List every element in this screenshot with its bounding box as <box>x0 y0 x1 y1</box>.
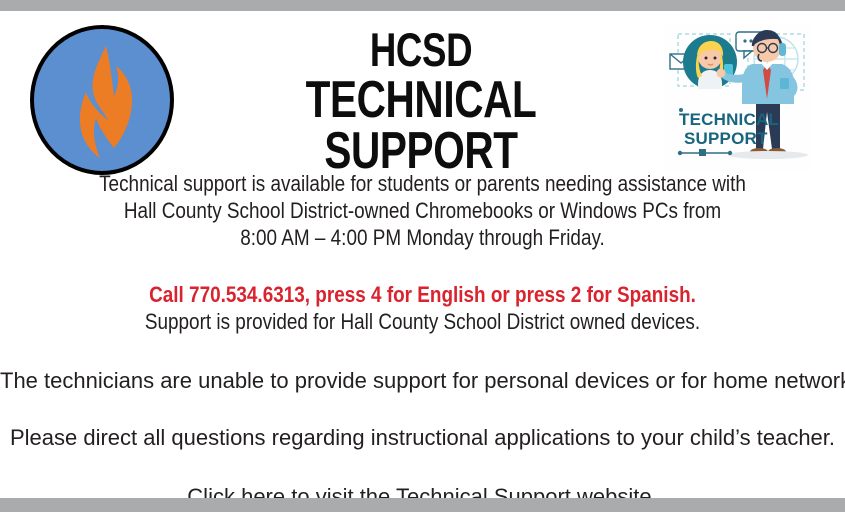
phone-paragraph: Call 770.534.6313, press 4 for English o… <box>0 281 845 335</box>
page-title: HCSD TECHNICAL SUPPORT <box>186 27 656 177</box>
hcsd-logo <box>28 24 176 176</box>
bottom-chrome-bar <box>0 498 845 512</box>
availability-line-1: Technical support is available for stude… <box>59 170 786 197</box>
svg-text:TECHNICAL: TECHNICAL <box>679 110 779 129</box>
technicians-limitation-line: The technicians are unable to provide su… <box>0 367 845 394</box>
availability-paragraph: Technical support is available for stude… <box>0 170 845 251</box>
teacher-referral-line: Please direct all questions regarding in… <box>0 424 845 451</box>
phone-number-line: Call 770.534.6313, press 4 for English o… <box>59 281 786 308</box>
body-copy: Technical support is available for stude… <box>0 168 845 510</box>
header-section: HCSD TECHNICAL SUPPORT <box>0 11 845 163</box>
flyer-page: HCSD TECHNICAL SUPPORT <box>0 0 845 512</box>
title-line-2: TECHNICAL SUPPORT <box>238 75 605 177</box>
availability-line-3: 8:00 AM – 4:00 PM Monday through Friday. <box>59 224 786 251</box>
technicians-paragraph: The technicians are unable to provide su… <box>0 367 845 394</box>
top-chrome-bar <box>0 0 845 11</box>
teacher-paragraph: Please direct all questions regarding in… <box>0 424 845 451</box>
technical-support-illustration: TECHNICAL SUPPORT <box>664 24 811 172</box>
support-scope-line: Support is provided for Hall County Scho… <box>59 308 786 335</box>
svg-text:SUPPORT: SUPPORT <box>684 129 768 148</box>
flame-logo-icon <box>28 24 176 176</box>
title-line-1: HCSD <box>238 27 605 73</box>
availability-line-2: Hall County School District-owned Chrome… <box>59 197 786 224</box>
support-agents-icon: TECHNICAL SUPPORT <box>664 24 811 172</box>
